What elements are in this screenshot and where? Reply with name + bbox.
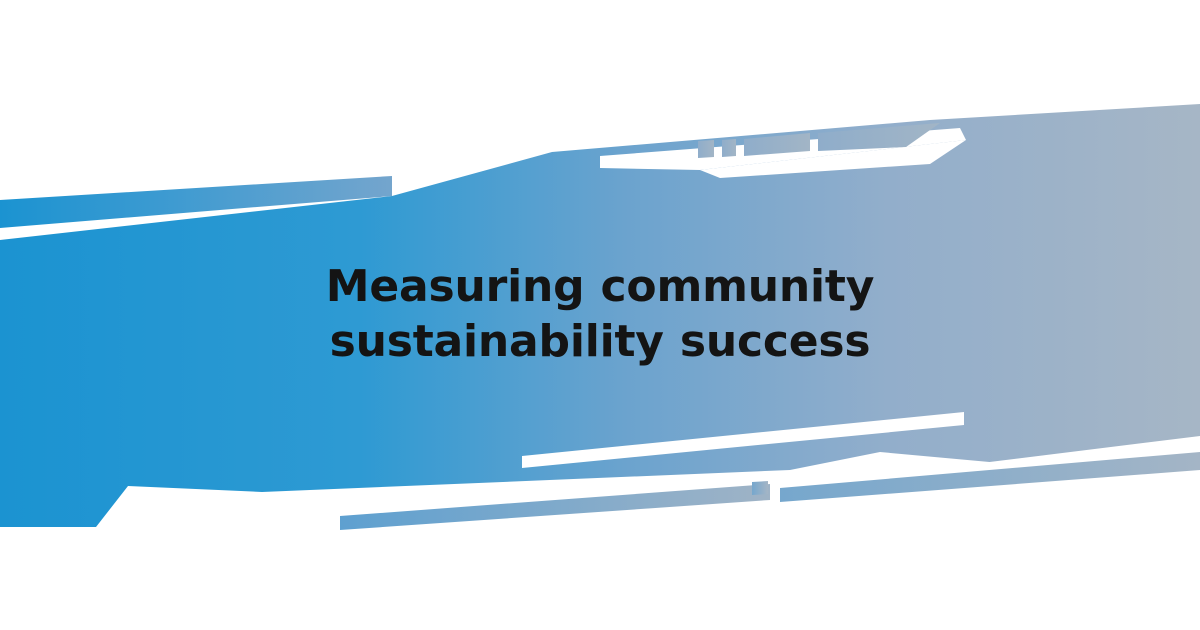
bottom-dash-right xyxy=(752,481,768,495)
bottom-bar-middle xyxy=(340,484,770,530)
decorative-background-art xyxy=(0,0,1200,630)
banner-card: Measuring community sustainability succe… xyxy=(0,0,1200,630)
